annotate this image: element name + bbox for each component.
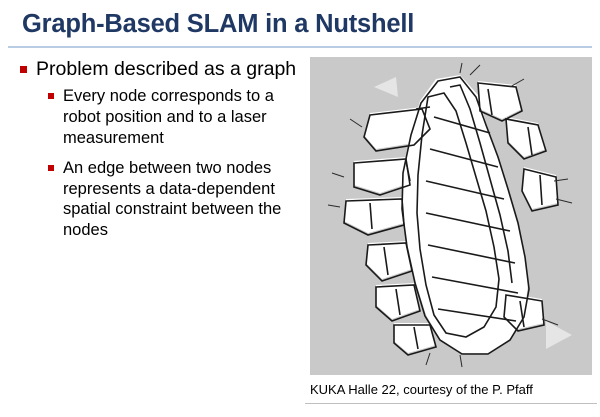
bullet-level2-first-text: Every node corresponds to a robot positi… [63,87,274,147]
bullet-level1: Problem described as a graph [20,58,305,80]
bullet-list: Problem described as a graph Every node … [20,58,305,250]
occupancy-grid-map-graphic [310,57,592,375]
bullet-level2-second: An edge between two nodes represents a d… [48,158,305,241]
map-figure [310,57,592,375]
title-divider [8,46,592,48]
bullet-level2-second-text: An edge between two nodes represents a d… [63,159,281,239]
slide: Graph-Based SLAM in a Nutshell Problem d… [0,0,600,417]
bullet-marker-icon [48,93,54,99]
bullet-level1-text: Problem described as a graph [36,58,296,80]
bullet-marker-icon [48,165,54,171]
bullet-level2-first: Every node corresponds to a robot positi… [48,86,305,148]
caption-divider [305,403,597,404]
sub-bullet-group: Every node corresponds to a robot positi… [48,86,305,240]
page-title: Graph-Based SLAM in a Nutshell [22,10,414,39]
figure-caption: KUKA Halle 22, courtesy of the P. Pfaff [310,382,594,397]
bullet-marker-icon [20,66,27,73]
